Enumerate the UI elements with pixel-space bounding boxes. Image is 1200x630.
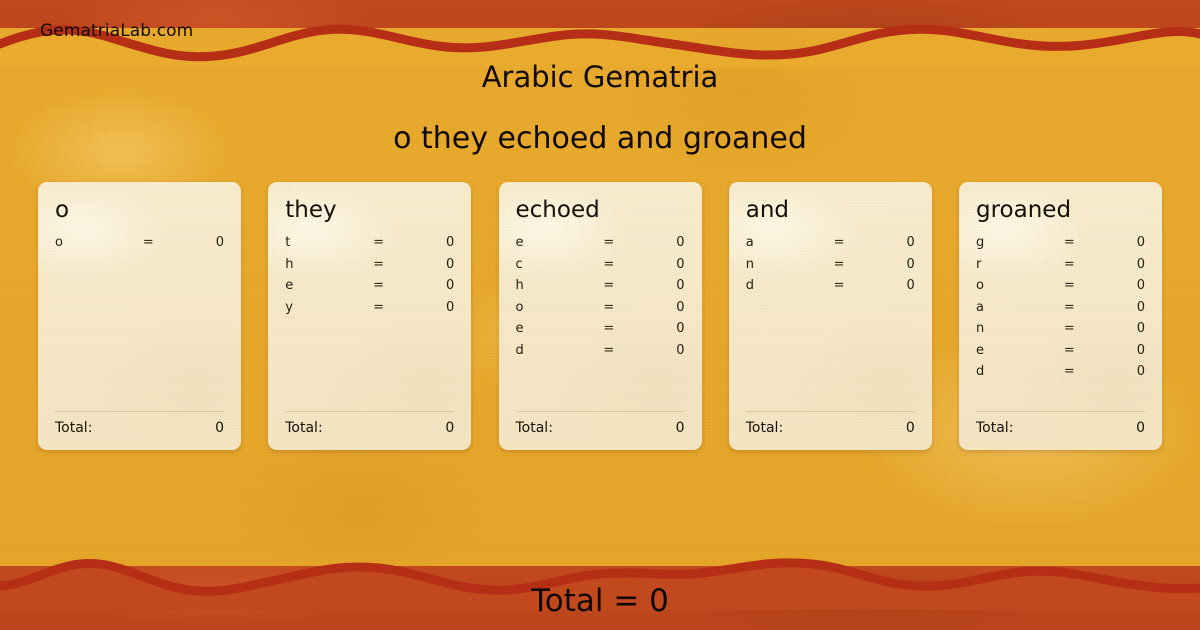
site-watermark: GematriaLab.com [40,21,193,41]
letter-row: r=0 [976,257,1145,279]
word-card: theyt=0h=0e=0y=0Total:0 [268,182,471,450]
letter-value: 0 [1098,343,1145,358]
letter-glyph: c [516,257,604,272]
letter-row: o=0 [55,235,224,257]
letter-value: 0 [407,278,454,293]
card-total-value: 0 [1136,420,1145,436]
letter-rows: o=0 [55,235,224,411]
letter-rows: e=0c=0h=0o=0e=0d=0 [516,235,685,411]
equals-sign: = [1064,300,1098,315]
letter-glyph: d [976,364,1064,379]
equals-sign: = [1064,235,1098,250]
equals-sign: = [834,235,868,250]
letter-row: d=0 [516,343,685,365]
card-total-row: Total:0 [516,420,685,436]
letter-value: 0 [637,278,684,293]
letter-value: 0 [637,257,684,272]
equals-sign: = [603,257,637,272]
letter-value: 0 [867,235,914,250]
equals-sign: = [834,257,868,272]
letter-glyph: e [516,321,604,336]
card-total-label: Total: [976,420,1013,436]
word-title: and [746,198,915,222]
equals-sign: = [373,278,407,293]
letter-row: e=0 [976,343,1145,365]
letter-value: 0 [1098,235,1145,250]
letter-value: 0 [407,300,454,315]
letter-rows: a=0n=0d=0 [746,235,915,411]
letter-glyph: e [976,343,1064,358]
equals-sign: = [1064,364,1098,379]
letter-row: n=0 [746,257,915,279]
card-total-label: Total: [746,420,783,436]
letter-rows: g=0r=0o=0a=0n=0e=0d=0 [976,235,1145,411]
letter-value: 0 [1098,257,1145,272]
letter-glyph: y [285,300,373,315]
letter-glyph: o [516,300,604,315]
letter-value: 0 [867,278,914,293]
card-total-value: 0 [676,420,685,436]
card-divider [285,411,454,412]
card-total-row: Total:0 [285,420,454,436]
letter-row: e=0 [516,235,685,257]
equals-sign: = [373,300,407,315]
equals-sign: = [1064,343,1098,358]
card-total-label: Total: [285,420,322,436]
letter-value: 0 [1098,321,1145,336]
letter-glyph: o [976,278,1064,293]
letter-glyph: g [976,235,1064,250]
letter-glyph: e [285,278,373,293]
letter-row: e=0 [516,321,685,343]
letter-glyph: t [285,235,373,250]
grand-total: Total = 0 [0,583,1200,619]
equals-sign: = [1064,321,1098,336]
letter-row: t=0 [285,235,454,257]
equals-sign: = [603,278,637,293]
card-divider [746,411,915,412]
letter-glyph: h [285,257,373,272]
card-divider [976,411,1145,412]
letter-row: c=0 [516,257,685,279]
equals-sign: = [373,257,407,272]
card-total-row: Total:0 [746,420,915,436]
letter-row: h=0 [285,257,454,279]
page-title: Arabic Gematria [0,60,1200,94]
letter-glyph: d [746,278,834,293]
letter-row: a=0 [976,300,1145,322]
card-total-label: Total: [55,420,92,436]
card-total-value: 0 [906,420,915,436]
letter-glyph: e [516,235,604,250]
word-card: anda=0n=0d=0Total:0 [729,182,932,450]
letter-glyph: d [516,343,604,358]
letter-value: 0 [637,235,684,250]
word-card-list: oo=0Total:0theyt=0h=0e=0y=0Total:0echoed… [38,182,1162,450]
letter-value: 0 [637,321,684,336]
word-card: oo=0Total:0 [38,182,241,450]
letter-value: 0 [407,235,454,250]
letter-value: 0 [1098,278,1145,293]
card-divider [55,411,224,412]
equals-sign: = [603,343,637,358]
letter-value: 0 [177,235,224,250]
card-total-value: 0 [445,420,454,436]
letter-row: a=0 [746,235,915,257]
letter-value: 0 [1098,300,1145,315]
letter-rows: t=0h=0e=0y=0 [285,235,454,411]
equals-sign: = [834,278,868,293]
letter-row: g=0 [976,235,1145,257]
equals-sign: = [1064,257,1098,272]
letter-value: 0 [637,343,684,358]
letter-value: 0 [407,257,454,272]
letter-row: o=0 [976,278,1145,300]
equals-sign: = [603,321,637,336]
word-title: they [285,198,454,222]
card-total-row: Total:0 [976,420,1145,436]
word-title: o [55,198,224,222]
word-card: groanedg=0r=0o=0a=0n=0e=0d=0Total:0 [959,182,1162,450]
letter-row: d=0 [746,278,915,300]
letter-glyph: r [976,257,1064,272]
equals-sign: = [1064,278,1098,293]
phrase-subtitle: o they echoed and groaned [0,121,1200,156]
letter-value: 0 [1098,364,1145,379]
card-divider [516,411,685,412]
letter-row: o=0 [516,300,685,322]
card-total-value: 0 [215,420,224,436]
letter-glyph: a [746,235,834,250]
word-card: echoede=0c=0h=0o=0e=0d=0Total:0 [499,182,702,450]
equals-sign: = [373,235,407,250]
equals-sign: = [603,300,637,315]
letter-row: y=0 [285,300,454,322]
word-title: echoed [516,198,685,222]
card-total-label: Total: [516,420,553,436]
letter-row: e=0 [285,278,454,300]
letter-row: h=0 [516,278,685,300]
card-total-row: Total:0 [55,420,224,436]
letter-value: 0 [867,257,914,272]
equals-sign: = [603,235,637,250]
letter-glyph: n [746,257,834,272]
letter-glyph: n [976,321,1064,336]
letter-glyph: a [976,300,1064,315]
gematria-card-image: GematriaLab.com Arabic Gematria o they e… [0,0,1200,630]
letter-glyph: h [516,278,604,293]
letter-value: 0 [637,300,684,315]
word-title: groaned [976,198,1145,222]
letter-glyph: o [55,235,143,250]
letter-row: d=0 [976,364,1145,386]
letter-row: n=0 [976,321,1145,343]
equals-sign: = [143,235,177,250]
